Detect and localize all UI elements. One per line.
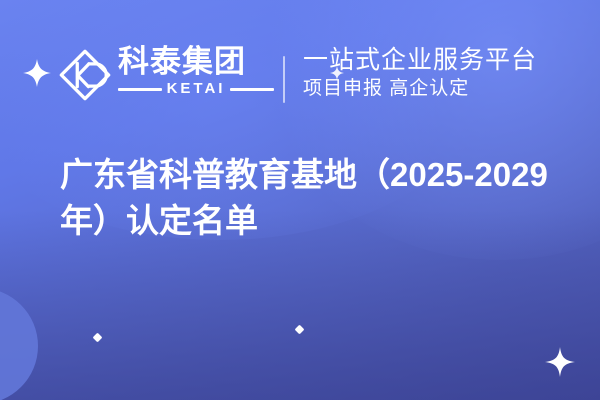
banner-header: 科泰集团 KETAI 一站式企业服务平台 项目申报 高企认定 xyxy=(0,0,600,132)
brand-name-en: KETAI xyxy=(167,81,226,97)
brand-name-en-row: KETAI xyxy=(118,81,274,97)
promo-banner: 科泰集团 KETAI 一站式企业服务平台 项目申报 高企认定 广东省科普教育基地… xyxy=(0,0,600,400)
background-circle-bottom-left xyxy=(0,288,38,400)
wordmark-rule-right xyxy=(230,88,274,91)
tagline-sub: 项目申报 高企认定 xyxy=(303,76,583,102)
wordmark-rule-left xyxy=(118,88,162,91)
brand-wordmark: 科泰集团 KETAI xyxy=(118,44,278,106)
tagline-block: 一站式企业服务平台 项目申报 高企认定 xyxy=(303,44,583,102)
diamond-dot-icon xyxy=(295,325,305,335)
four-point-star-icon xyxy=(545,347,575,377)
tagline-main: 一站式企业服务平台 xyxy=(303,44,583,76)
four-point-star-icon xyxy=(23,59,51,87)
brand-name-cn: 科泰集团 xyxy=(118,44,278,80)
page-title: 广东省科普教育基地（2025-2029年）认定名单 xyxy=(60,152,565,244)
ketai-diamond-kd-logo-icon xyxy=(56,46,114,104)
diamond-dot-icon xyxy=(93,333,103,343)
header-divider xyxy=(283,56,285,103)
